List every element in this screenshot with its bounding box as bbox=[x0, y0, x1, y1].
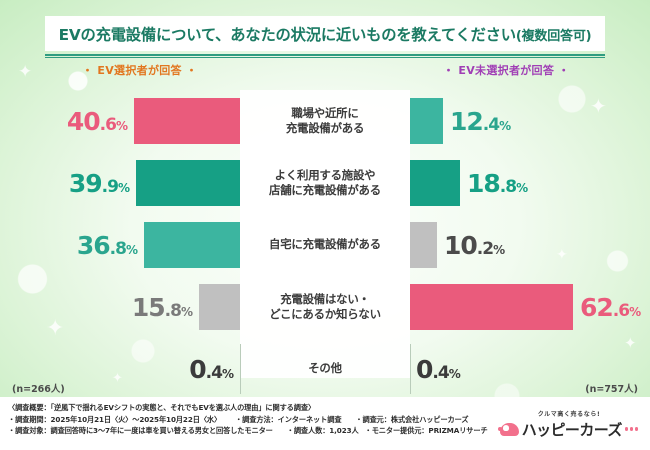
chart-row: 15.8%充電設備はない・どこにあるか知らない62.6% bbox=[0, 276, 650, 338]
category-label: その他 bbox=[240, 338, 410, 400]
title-divider-thick bbox=[45, 54, 605, 56]
category-label: 充電設備はない・どこにあるか知らない bbox=[240, 276, 410, 338]
page-title: EVの充電設備について、あなたの状況に近いものを教えてください(複数回答可) bbox=[45, 16, 605, 51]
page-title-main: EVの充電設備について、あなたの状況に近いものを教えてください bbox=[59, 26, 516, 44]
row-left-side: 36.8% bbox=[0, 214, 240, 276]
row-right-side: 10.2% bbox=[410, 214, 650, 276]
logo-main: ハッピーカーズ bbox=[500, 419, 639, 440]
value-label-right: 10.2% bbox=[444, 231, 504, 260]
value-label-left: 39.9% bbox=[69, 169, 129, 198]
footer-bar: 〈調査概要：「逆風下で揺れるEVシフトの実態と、それでもEVを選ぶ人の理由」に関… bbox=[0, 397, 650, 450]
page-title-note: (複数回答可) bbox=[516, 29, 591, 44]
bar-left bbox=[136, 160, 240, 206]
row-left-side: 15.8% bbox=[0, 276, 240, 338]
row-right-side: 62.6% bbox=[410, 276, 650, 338]
row-divider-right bbox=[410, 344, 411, 394]
chart-row: 0.4%その他0.4% bbox=[0, 338, 650, 400]
category-label: 職場や近所に充電設備がある bbox=[240, 90, 410, 152]
survey-monitor-provider: ・モニター提供元：PRIZMAリサーチ bbox=[365, 426, 488, 435]
logo-dots-icon bbox=[625, 427, 639, 431]
survey-target: ・調査対象：調査回答時に3〜7年に一度は車を買い替える男女と回答したモニター bbox=[8, 426, 273, 435]
survey-count: ・調査人数：1,023人 bbox=[287, 426, 359, 435]
category-label: よく利用する施設や店舗に充電設備がある bbox=[240, 152, 410, 214]
bar-left bbox=[144, 222, 240, 268]
car-icon bbox=[500, 423, 519, 436]
brand-logo[interactable]: クルマ高く売るなら! ハッピーカーズ bbox=[496, 405, 642, 443]
bar-right bbox=[410, 98, 443, 144]
bar-right bbox=[410, 160, 460, 206]
bar-right bbox=[410, 284, 573, 330]
row-right-side: 12.4% bbox=[410, 90, 650, 152]
bar-right bbox=[410, 222, 437, 268]
chart-area: 40.6%職場や近所に充電設備がある12.4%39.9%よく利用する施設や店舗に… bbox=[0, 90, 650, 378]
value-label-right: 0.4% bbox=[416, 355, 460, 384]
value-label-right: 62.6% bbox=[580, 293, 640, 322]
category-label: 自宅に充電設備がある bbox=[240, 214, 410, 276]
value-label-left: 40.6% bbox=[67, 107, 127, 136]
survey-method: ・調査方法：インターネット調査 bbox=[235, 415, 341, 424]
logo-name: ハッピーカーズ bbox=[522, 419, 622, 440]
row-left-side: 40.6% bbox=[0, 90, 240, 152]
value-label-left: 15.8% bbox=[132, 293, 192, 322]
survey-target-line: ・調査対象：調査回答時に3〜7年に一度は車を買い替える男女と回答したモニター・調… bbox=[8, 425, 508, 437]
survey-period-line: ・調査期間：2025年10月21日〈火〉〜2025年10月22日〈水〉・調査方法… bbox=[8, 414, 508, 426]
title-block: EVの充電設備について、あなたの状況に近いものを教えてください(複数回答可) bbox=[45, 16, 605, 58]
bar-left bbox=[199, 284, 240, 330]
row-right-side: 18.8% bbox=[410, 152, 650, 214]
title-divider-thin bbox=[45, 57, 605, 58]
legend-left: ・ EV選択者が回答 ・ bbox=[82, 62, 197, 78]
logo-tagline: クルマ高く売るなら! bbox=[538, 409, 601, 418]
value-label-right: 12.4% bbox=[450, 107, 510, 136]
sample-size-left: (n=266人) bbox=[12, 381, 65, 395]
value-label-left: 0.4% bbox=[189, 355, 233, 384]
bar-left bbox=[134, 98, 240, 144]
survey-source: ・調査元：株式会社ハッピーカーズ bbox=[355, 415, 468, 424]
row-divider-left bbox=[240, 344, 241, 394]
legend-right: ・ EV未選択者が回答 ・ bbox=[443, 62, 570, 78]
chart-row: 36.8%自宅に充電設備がある10.2% bbox=[0, 214, 650, 276]
chart-row: 40.6%職場や近所に充電設備がある12.4% bbox=[0, 90, 650, 152]
sample-size-right: (n=757人) bbox=[585, 381, 638, 395]
chart-row: 39.9%よく利用する施設や店舗に充電設備がある18.8% bbox=[0, 152, 650, 214]
row-left-side: 39.9% bbox=[0, 152, 240, 214]
survey-details: 〈調査概要：「逆風下で揺れるEVシフトの実態と、それでもEVを選ぶ人の理由」に関… bbox=[8, 402, 508, 437]
survey-overview-line: 〈調査概要：「逆風下で揺れるEVシフトの実態と、それでもEVを選ぶ人の理由」に関… bbox=[8, 402, 508, 414]
survey-period: ・調査期間：2025年10月21日〈火〉〜2025年10月22日〈水〉 bbox=[8, 415, 221, 424]
value-label-left: 36.8% bbox=[77, 231, 137, 260]
sparkle-decor-1: ✦ bbox=[18, 64, 32, 81]
value-label-right: 18.8% bbox=[467, 169, 527, 198]
